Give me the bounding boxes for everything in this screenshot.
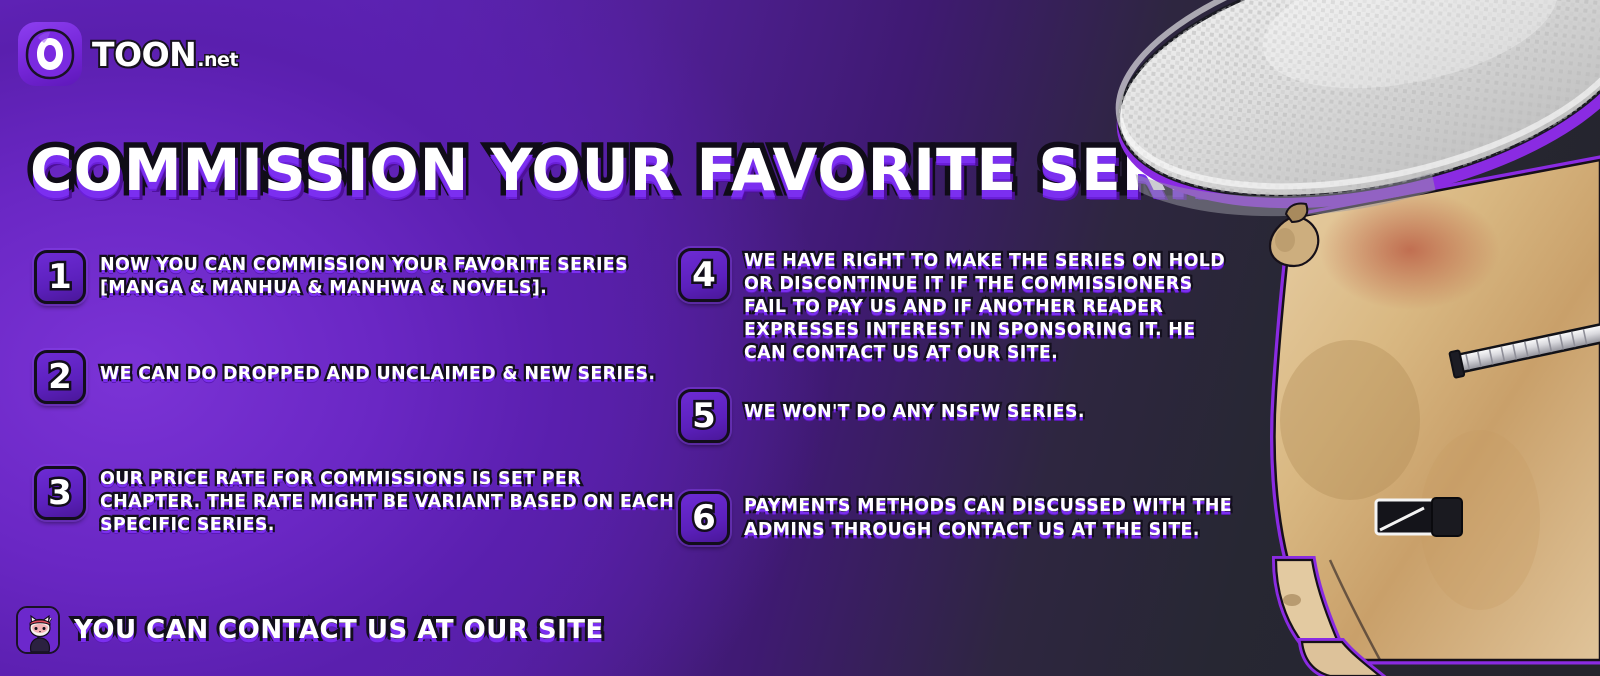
item-number-badge: 6 bbox=[678, 491, 730, 545]
cat-samurai-avatar-icon bbox=[16, 606, 60, 654]
item-text: OUR PRICE RATE FOR COMMISSIONS IS SET PE… bbox=[100, 466, 684, 537]
site-logo[interactable]: TOON .net bbox=[18, 22, 238, 86]
item-number-badge: 3 bbox=[34, 466, 86, 520]
item-text: PAYMENTS METHODS CAN DISCUSSED WITH THE … bbox=[744, 491, 1238, 541]
brand-wordmark: TOON .net bbox=[92, 38, 238, 71]
items-column-left: 1 NOW YOU CAN COMMISSION YOUR FAVORITE S… bbox=[34, 250, 684, 545]
item-number-badge: 5 bbox=[678, 389, 730, 443]
list-item: 4 WE HAVE RIGHT TO MAKE THE SERIES ON HO… bbox=[678, 248, 1238, 365]
brand-name: TOON bbox=[92, 38, 196, 71]
contact-text: YOU CAN CONTACT US AT OUR SITE bbox=[74, 617, 604, 643]
page-title: COMMISSION YOUR FAVORITE SERIES bbox=[30, 140, 1273, 201]
item-text: NOW YOU CAN COMMISSION YOUR FAVORITE SER… bbox=[100, 250, 684, 300]
commission-banner: TOON .net COMMISSION YOUR FAVORITE SERIE… bbox=[0, 0, 1600, 676]
list-item: 5 WE WON'T DO ANY NSFW SERIES. bbox=[678, 389, 1238, 443]
list-item: 1 NOW YOU CAN COMMISSION YOUR FAVORITE S… bbox=[34, 250, 684, 304]
item-number-badge: 4 bbox=[678, 248, 730, 302]
brand-tld: .net bbox=[197, 51, 238, 70]
items-column-right: 4 WE HAVE RIGHT TO MAKE THE SERIES ON HO… bbox=[678, 248, 1238, 553]
toon-u-logo-icon bbox=[18, 22, 82, 86]
item-text: WE WON'T DO ANY NSFW SERIES. bbox=[744, 389, 1085, 424]
contact-footer[interactable]: YOU CAN CONTACT US AT OUR SITE bbox=[16, 606, 604, 654]
item-number-badge: 1 bbox=[34, 250, 86, 304]
list-item: 2 WE CAN DO DROPPED AND UNCLAIMED & NEW … bbox=[34, 350, 684, 404]
item-number-badge: 2 bbox=[34, 350, 86, 404]
item-text: WE HAVE RIGHT TO MAKE THE SERIES ON HOLD… bbox=[744, 248, 1238, 365]
list-item: 6 PAYMENTS METHODS CAN DISCUSSED WITH TH… bbox=[678, 491, 1238, 545]
item-text: WE CAN DO DROPPED AND UNCLAIMED & NEW SE… bbox=[100, 350, 655, 386]
list-item: 3 OUR PRICE RATE FOR COMMISSIONS IS SET … bbox=[34, 466, 684, 537]
